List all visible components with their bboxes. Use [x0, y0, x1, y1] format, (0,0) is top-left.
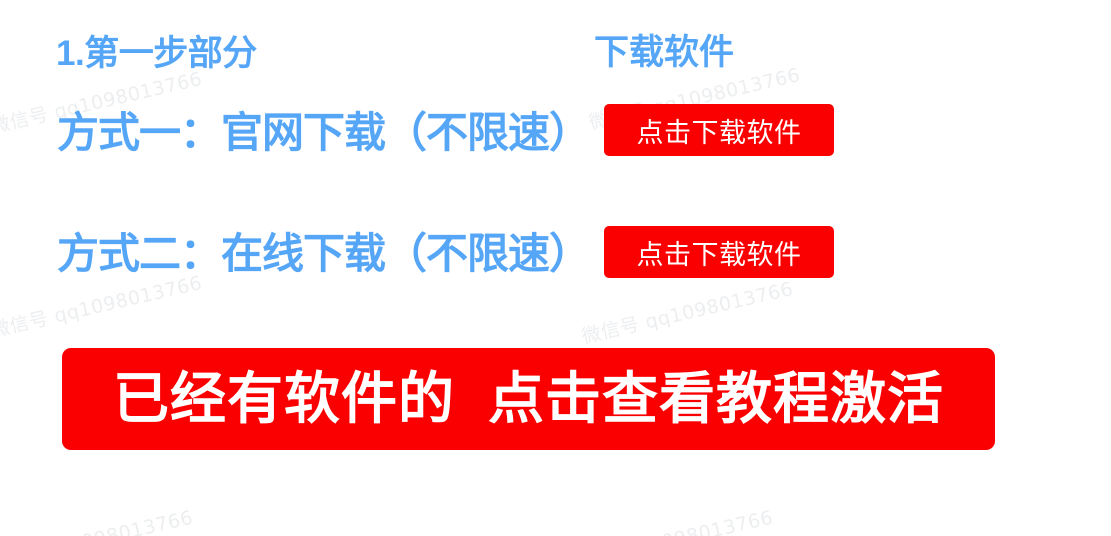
watermark-mid-left: 微信号 qq1098013766 — [0, 268, 205, 343]
download-section-title: 下载软件 — [594, 35, 734, 70]
page-root: 微信号 qq1098013766 微信号 qq1098013766 微信号 qq… — [0, 0, 1111, 536]
download-software-button-official[interactable]: 点击下载软件 — [604, 104, 834, 156]
watermark-bottom-center: qq1098013766 — [623, 507, 775, 536]
method-one-label: 方式一：官网下载（不限速） — [57, 112, 590, 154]
activation-banner-label: 已经有软件的 点击查看教程激活 — [113, 371, 944, 427]
method-two-label: 方式二：在线下载（不限速） — [57, 233, 590, 275]
step-section-title: 1.第一步部分 — [56, 36, 257, 71]
watermark-mid-center: 微信号 qq1098013766 — [579, 274, 796, 349]
view-activation-tutorial-banner[interactable]: 已经有软件的 点击查看教程激活 — [62, 348, 995, 450]
download-software-button-online[interactable]: 点击下载软件 — [604, 226, 834, 278]
watermark-bottom-left: qq1098013766 — [43, 507, 195, 536]
